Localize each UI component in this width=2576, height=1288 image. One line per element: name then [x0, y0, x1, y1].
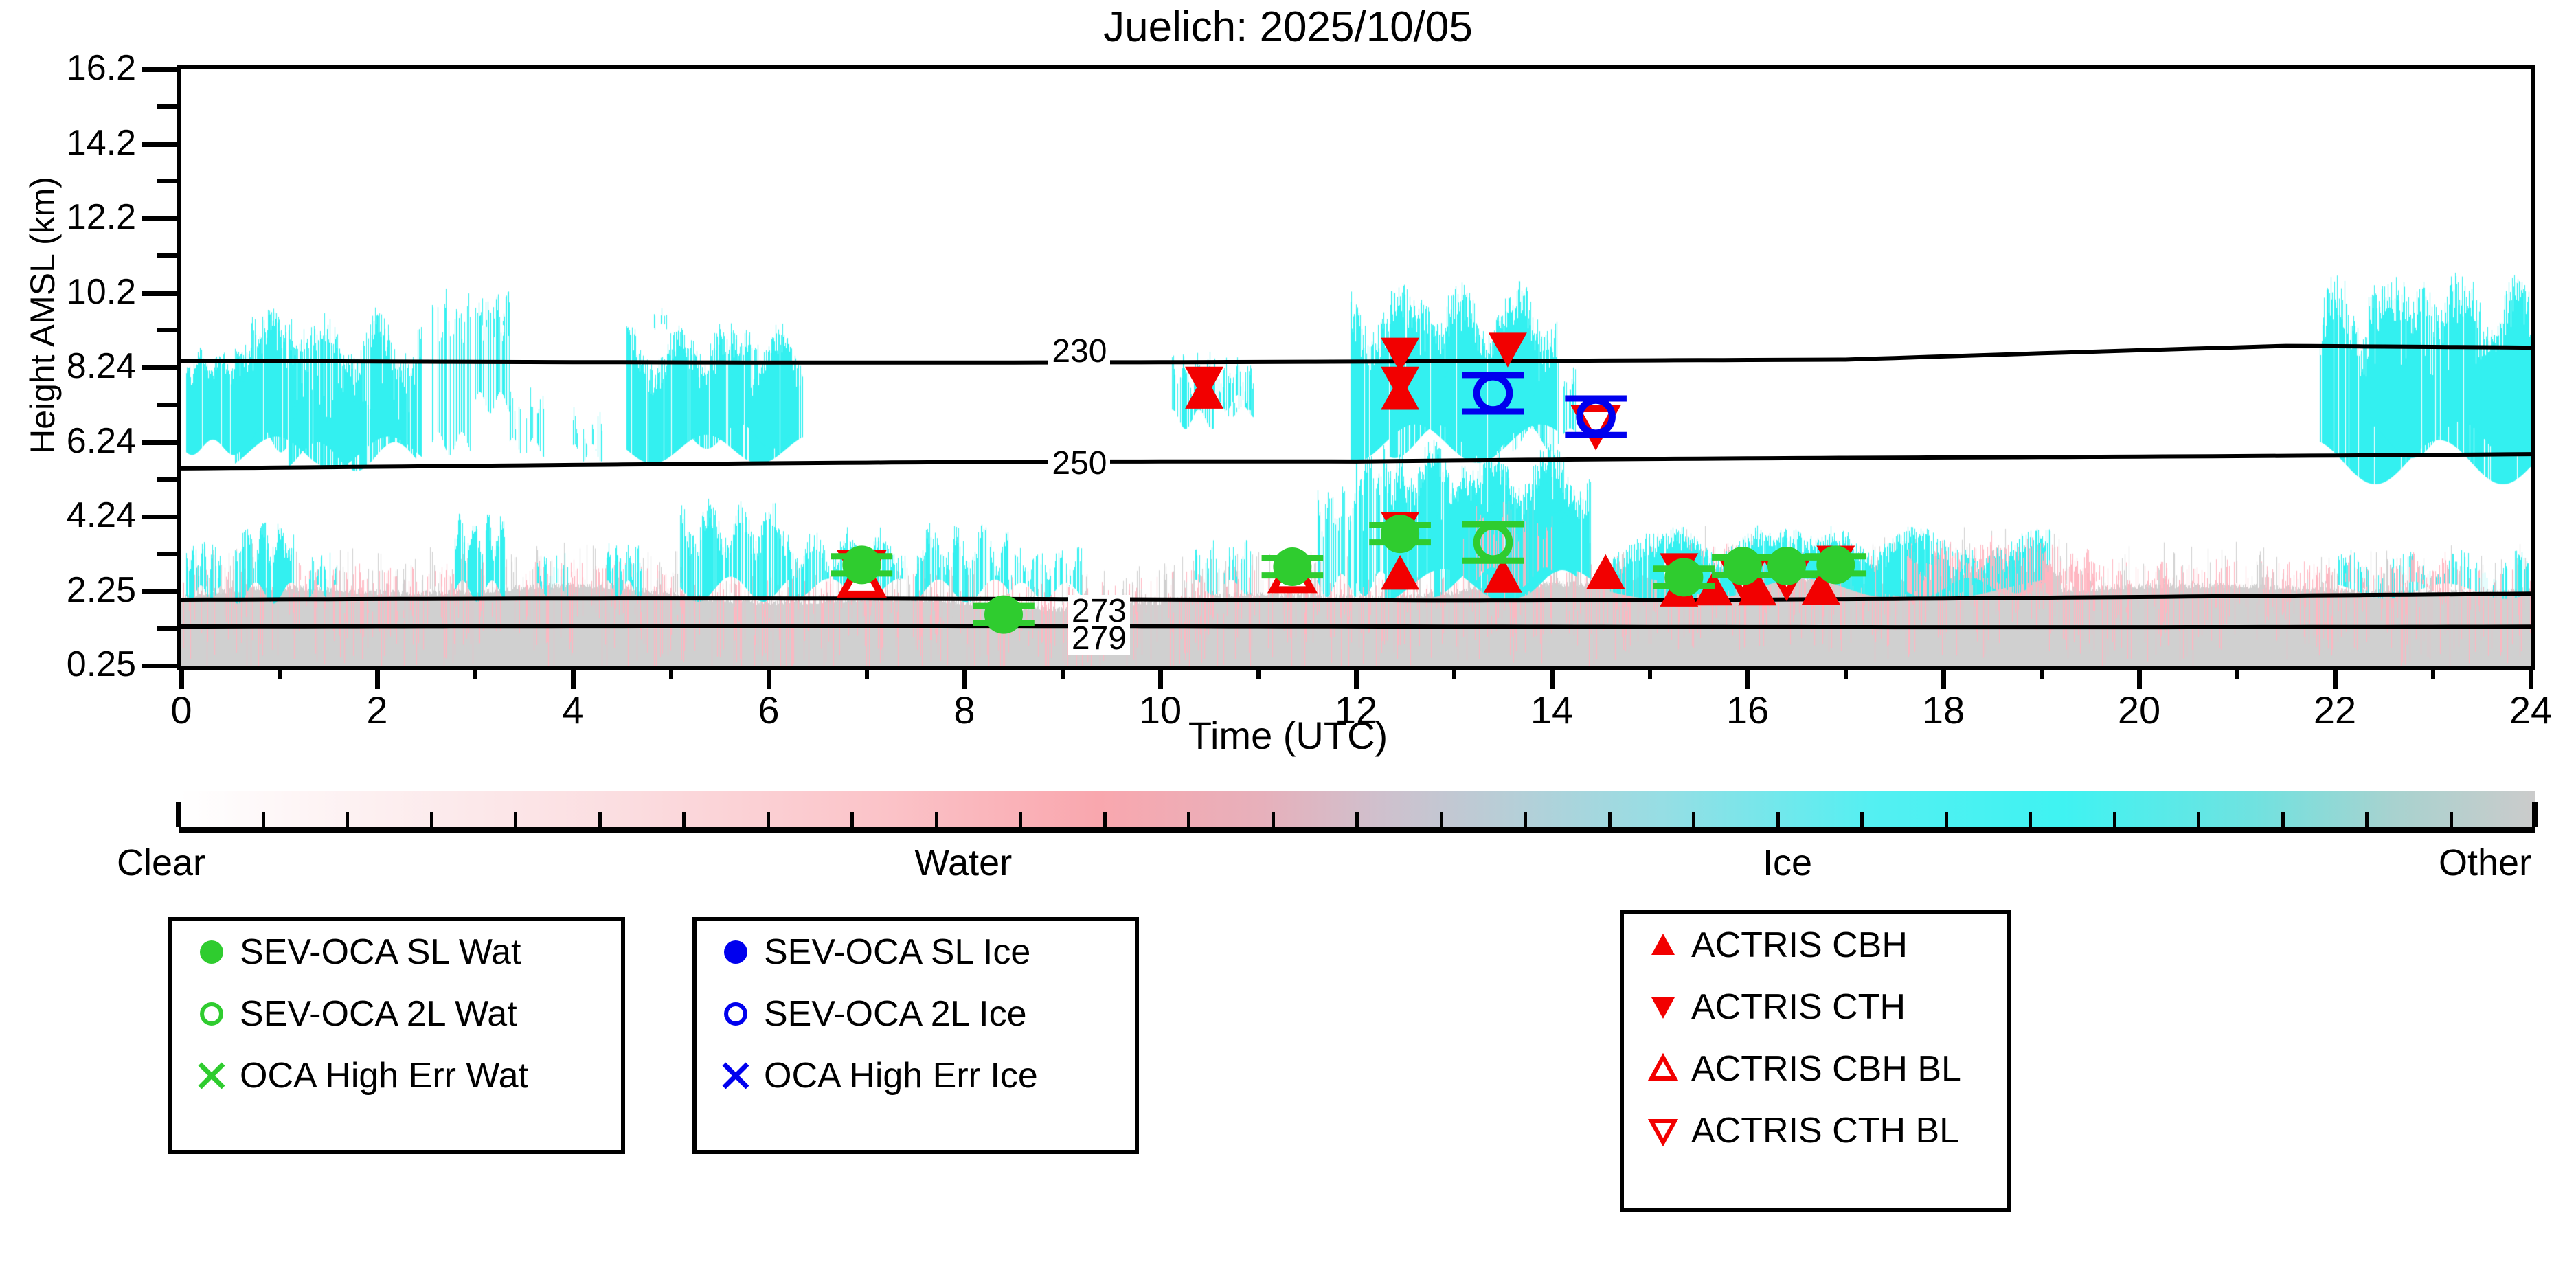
- colorbar-tick: [598, 812, 602, 827]
- legend-item-label: ACTRIS CTH: [1691, 989, 1906, 1025]
- y-tick-label: 16.2: [0, 47, 136, 89]
- filled-circle-icon: [712, 931, 760, 973]
- legend-item[interactable]: OCA High Err Ice: [697, 1045, 1135, 1107]
- y-tick: [142, 365, 177, 370]
- legend-item[interactable]: OCA High Err Wat: [172, 1045, 621, 1107]
- y-tick: [142, 216, 177, 221]
- x-minor-tick: [1452, 666, 1456, 679]
- y-tick: [142, 515, 177, 519]
- series-sev-oca-2l-wat: [1462, 524, 1524, 561]
- legend-item[interactable]: ACTRIS CTH BL: [1624, 1100, 2007, 1162]
- colorbar-label: Ice: [1763, 841, 1812, 884]
- y-tick: [142, 440, 177, 445]
- x-tick: [571, 666, 576, 689]
- plot-area: [177, 65, 2535, 670]
- y-minor-tick: [157, 253, 177, 258]
- colorbar-tick: [2365, 812, 2369, 827]
- y-tick: [142, 589, 177, 594]
- legend-item-label: ACTRIS CTH BL: [1691, 1113, 1959, 1149]
- tri-up-icon: [1639, 925, 1687, 966]
- colorbar-tick: [767, 812, 770, 827]
- tri-up-open-icon: [1639, 1048, 1687, 1089]
- y-tick-label: 2.25: [0, 569, 136, 611]
- legend-item[interactable]: SEV-OCA SL Ice: [697, 921, 1135, 983]
- x-tick: [375, 666, 380, 689]
- y-tick-label: 12.2: [0, 196, 136, 238]
- series-actris-cbh-bl: [842, 555, 1311, 594]
- colorbar-tick: [1272, 812, 1275, 827]
- x-minor-tick: [669, 666, 673, 679]
- y-tick: [142, 291, 177, 296]
- x-tick: [1745, 666, 1750, 689]
- isotherm-line-279: [181, 626, 2531, 627]
- isotherm-line-273: [181, 594, 2531, 600]
- colorbar-tick: [1945, 812, 1948, 827]
- colorbar-tick: [2450, 812, 2453, 827]
- colorbar-tick: [1187, 812, 1190, 827]
- legend-item-label: SEV-OCA 2L Ice: [764, 996, 1026, 1032]
- colorbar-tick: [1692, 812, 1695, 827]
- legend-item-label: OCA High Err Ice: [764, 1058, 1038, 1094]
- legend-item-label: SEV-OCA SL Ice: [764, 934, 1030, 970]
- y-tick-label: 4.24: [0, 495, 136, 536]
- x-minor-tick: [2040, 666, 2044, 679]
- y-tick: [142, 142, 177, 147]
- x-minor-tick: [278, 666, 282, 679]
- x-tick: [962, 666, 967, 689]
- legend-item[interactable]: SEV-OCA 2L Wat: [172, 983, 621, 1045]
- x-tick: [1158, 666, 1163, 689]
- isotherm-line-230: [181, 346, 2531, 363]
- colorbar-tick: [1355, 812, 1359, 827]
- colorbar-tick: [1019, 812, 1022, 827]
- y-minor-tick: [157, 626, 177, 631]
- colorbar-tick: [1103, 812, 1107, 827]
- y-tick-label: 0.25: [0, 644, 136, 685]
- series-sev-oca-sl-wat: [831, 515, 1866, 634]
- colorbar-tick: [935, 812, 938, 827]
- legend-actris: ACTRIS CBHACTRIS CTHACTRIS CBH BLACTRIS …: [1620, 910, 2011, 1212]
- y-tick: [142, 67, 177, 72]
- x-tick: [1550, 666, 1555, 689]
- colorbar-tick: [1440, 812, 1443, 827]
- legend-item-label: ACTRIS CBH: [1691, 927, 1908, 963]
- colorbar-tick: [1524, 812, 1527, 827]
- colorbar-end-tick: [176, 802, 181, 827]
- x-tick: [767, 666, 771, 689]
- open-circle-icon: [712, 993, 760, 1035]
- colorbar-tick: [346, 812, 349, 827]
- colorbar-tick: [262, 812, 265, 827]
- y-minor-tick: [157, 477, 177, 482]
- tri-down-icon: [1639, 986, 1687, 1028]
- y-tick: [142, 664, 177, 668]
- colorbar-tick: [514, 812, 517, 827]
- colorbar-label: Other: [2439, 841, 2531, 884]
- x-tick: [2529, 666, 2533, 689]
- x-tick: [2137, 666, 2142, 689]
- colorbar-tick: [1608, 812, 1612, 827]
- colorbar-tick: [2029, 812, 2032, 827]
- tri-down-open-icon: [1639, 1110, 1687, 1151]
- x-axis-label: Time (UTC): [0, 713, 2576, 758]
- legend-item[interactable]: ACTRIS CBH: [1624, 914, 2007, 976]
- y-tick-label: 10.2: [0, 271, 136, 313]
- legend-item[interactable]: ACTRIS CTH: [1624, 976, 2007, 1038]
- y-tick-label: 14.2: [0, 122, 136, 163]
- y-minor-tick: [157, 403, 177, 407]
- colorbar-tick: [682, 812, 686, 827]
- y-tick-label: 8.24: [0, 346, 136, 387]
- colorbar-tick: [430, 812, 433, 827]
- colorbar-tick: [2197, 812, 2200, 827]
- x-tick: [2333, 666, 2338, 689]
- colorbar-tick: [1776, 812, 1780, 827]
- colorbar-axis: [179, 827, 2535, 833]
- open-circle-icon: [188, 993, 236, 1035]
- x-minor-tick: [865, 666, 869, 679]
- legend-item-label: SEV-OCA SL Wat: [240, 934, 521, 970]
- colorbar-tick: [2281, 812, 2285, 827]
- legend-item-label: SEV-OCA 2L Wat: [240, 996, 517, 1032]
- isotherm-label: 250: [1048, 447, 1110, 480]
- colorbar-tick: [1860, 812, 1864, 827]
- legend-item[interactable]: SEV-OCA 2L Ice: [697, 983, 1135, 1045]
- isotherm-label: 279: [1068, 622, 1130, 655]
- x-minor-tick: [1061, 666, 1065, 679]
- overlay-layer: [181, 69, 2531, 666]
- isotherm-line-250: [181, 454, 2531, 468]
- x-minor-tick: [1648, 666, 1652, 679]
- y-minor-tick: [157, 179, 177, 183]
- y-tick-label: 6.24: [0, 420, 136, 462]
- y-minor-tick: [157, 104, 177, 109]
- x-icon: [188, 1055, 236, 1096]
- x-tick: [179, 666, 184, 689]
- x-minor-tick: [2235, 666, 2239, 679]
- y-minor-tick: [157, 552, 177, 556]
- legend-water: SEV-OCA SL WatSEV-OCA 2L WatOCA High Err…: [168, 917, 625, 1154]
- colorbar-label: Water: [914, 841, 1012, 884]
- legend-item[interactable]: SEV-OCA SL Wat: [172, 921, 621, 983]
- x-minor-tick: [1256, 666, 1261, 679]
- filled-circle-icon: [188, 931, 236, 973]
- y-minor-tick: [157, 328, 177, 332]
- legend-item-label: OCA High Err Wat: [240, 1058, 528, 1094]
- x-minor-tick: [473, 666, 477, 679]
- x-minor-tick: [1844, 666, 1848, 679]
- colorbar-tick: [850, 812, 854, 827]
- x-tick: [1354, 666, 1359, 689]
- x-minor-tick: [2431, 666, 2435, 679]
- plot-canvas: [181, 69, 2531, 666]
- page-title: Juelich: 2025/10/05: [0, 3, 2576, 52]
- colorbar-tick: [2113, 812, 2116, 827]
- isotherm-label: 230: [1048, 335, 1110, 368]
- x-tick: [1941, 666, 1946, 689]
- legend-item[interactable]: ACTRIS CBH BL: [1624, 1038, 2007, 1100]
- colorbar-label: Clear: [117, 841, 205, 884]
- legend-item-label: ACTRIS CBH BL: [1691, 1051, 1961, 1087]
- legend-ice: SEV-OCA SL IceSEV-OCA 2L IceOCA High Err…: [692, 917, 1139, 1154]
- x-icon: [712, 1055, 760, 1096]
- colorbar-end-tick: [2532, 802, 2538, 827]
